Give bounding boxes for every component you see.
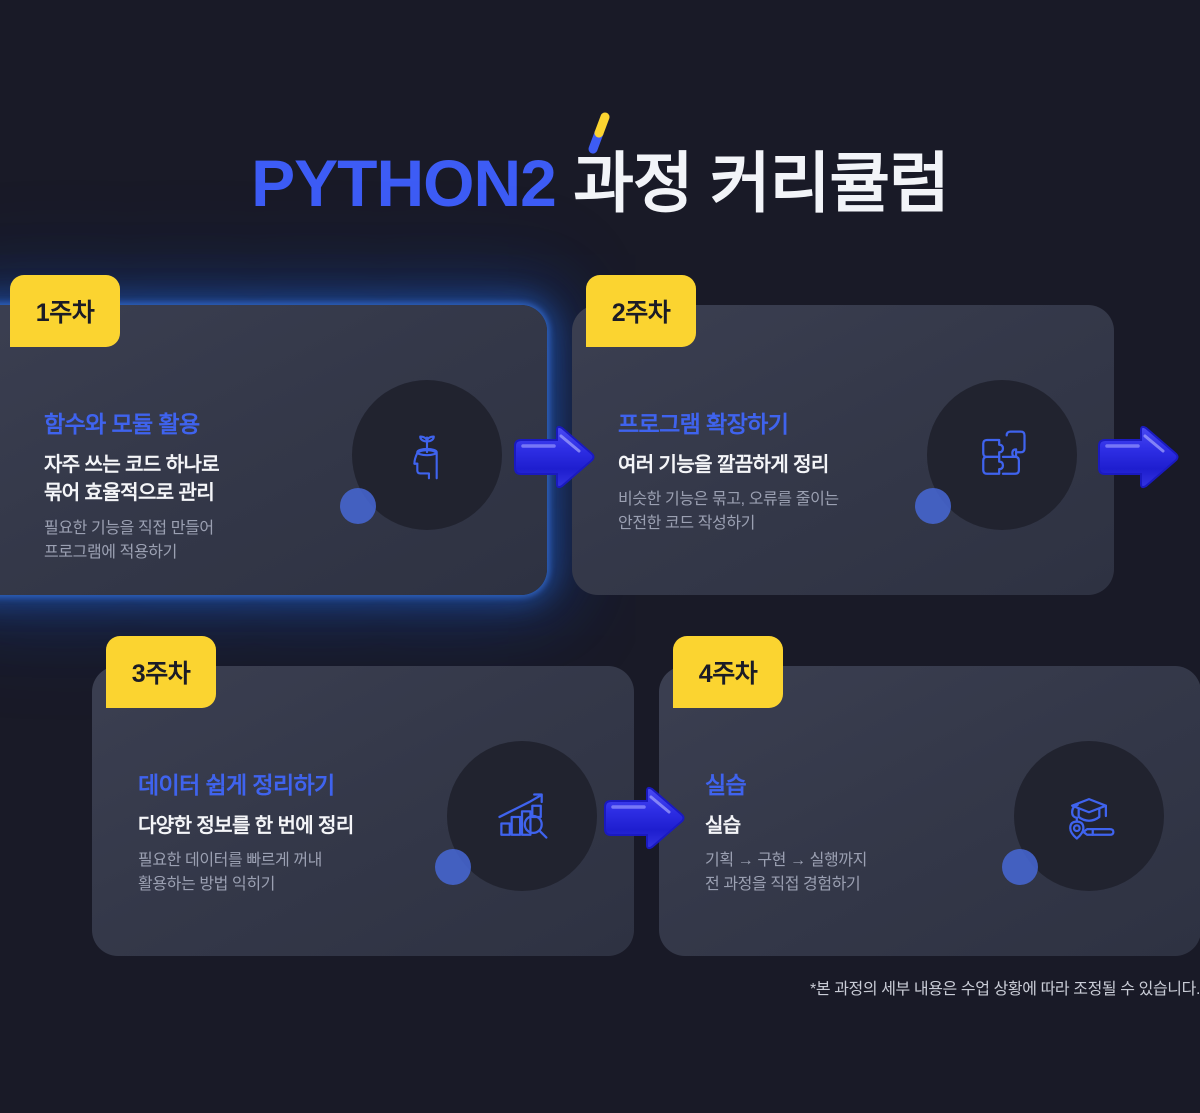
page-title: PYTHON2 과정 커리큘럼 xyxy=(0,150,1200,216)
week-badge-label-4: 4주차 xyxy=(699,654,757,690)
medallion-accent-dot-1 xyxy=(340,488,376,524)
title-rest: 과정 커리큘럼 xyxy=(556,146,949,220)
week-badge-2: 2주차 xyxy=(586,275,696,347)
puzzle-pieces-icon xyxy=(972,425,1032,485)
title-accent: PYTHON2 xyxy=(251,146,556,220)
week-card-1[interactable]: 1주차 함수와 모듈 활용 자주 쓰는 코드 하나로 묶어 효율적으로 관리 필… xyxy=(0,305,547,595)
arrow-week1-to-week2 xyxy=(511,424,597,490)
week-badge-4: 4주차 xyxy=(673,636,783,708)
card-sub-4: 기획 → 구현 → 실행까지 전 과정을 직접 경험하기 xyxy=(705,849,867,897)
card-lead-3: 다양한 정보를 한 번에 정리 xyxy=(138,812,354,840)
card-lead-1: 자주 쓰는 코드 하나로 묶어 효율적으로 관리 xyxy=(44,451,219,508)
card-heading-3: 데이터 쉽게 정리하기 xyxy=(138,766,354,800)
curriculum-infographic: PYTHON2 과정 커리큘럼 1주차 함수와 모듈 활용 자주 쓰는 코드 하… xyxy=(0,0,1200,1113)
week-badge-3: 3주차 xyxy=(106,636,216,708)
card-sub-2: 비슷한 기능은 묶고, 오류를 줄이는 안전한 코드 작성하기 xyxy=(618,488,839,536)
card-sub-1: 필요한 기능을 직접 만들어 프로그램에 적용하기 xyxy=(44,517,219,565)
week-card-2[interactable]: 2주차 프로그램 확장하기 여러 기능을 깔끔하게 정리 비슷한 기능은 묶고,… xyxy=(572,305,1114,595)
medallion-accent-dot-3 xyxy=(435,849,471,885)
card-medallion-4 xyxy=(1014,741,1164,891)
head-sprout-icon xyxy=(396,424,458,486)
week-card-4[interactable]: 4주차 실습 실습 기획 → 구현 → 실행까지 전 과정을 직접 경험하기 xyxy=(659,666,1200,956)
medallion-accent-dot-2 xyxy=(915,488,951,524)
week-badge-label-1: 1주차 xyxy=(36,293,94,329)
week-card-3[interactable]: 3주차 데이터 쉽게 정리하기 다양한 정보를 한 번에 정리 필요한 데이터를… xyxy=(92,666,634,956)
graduation-pin-pencil-icon xyxy=(1059,786,1119,846)
card-medallion-2 xyxy=(927,380,1077,530)
week-badge-label-3: 3주차 xyxy=(132,654,190,690)
card-heading-1: 함수와 모듈 활용 xyxy=(44,405,219,439)
card-sub-3: 필요한 데이터를 빠르게 꺼내 활용하는 방법 익히기 xyxy=(138,849,354,897)
medallion-accent-dot-4 xyxy=(1002,849,1038,885)
arrow-week2-to-next xyxy=(1095,424,1181,490)
card-heading-4: 실습 xyxy=(705,766,867,800)
card-medallion-3 xyxy=(447,741,597,891)
card-medallion-1 xyxy=(352,380,502,530)
chart-search-icon xyxy=(492,786,552,846)
card-lead-2: 여러 기능을 깔끔하게 정리 xyxy=(618,451,839,479)
week-badge-1: 1주차 xyxy=(10,275,120,347)
card-heading-2: 프로그램 확장하기 xyxy=(618,405,839,439)
footnote: *본 과정의 세부 내용은 수업 상황에 따라 조정될 수 있습니다. xyxy=(810,975,1200,999)
card-lead-4: 실습 xyxy=(705,812,867,840)
arrow-week3-to-week4 xyxy=(601,785,687,851)
week-badge-label-2: 2주차 xyxy=(612,293,670,329)
